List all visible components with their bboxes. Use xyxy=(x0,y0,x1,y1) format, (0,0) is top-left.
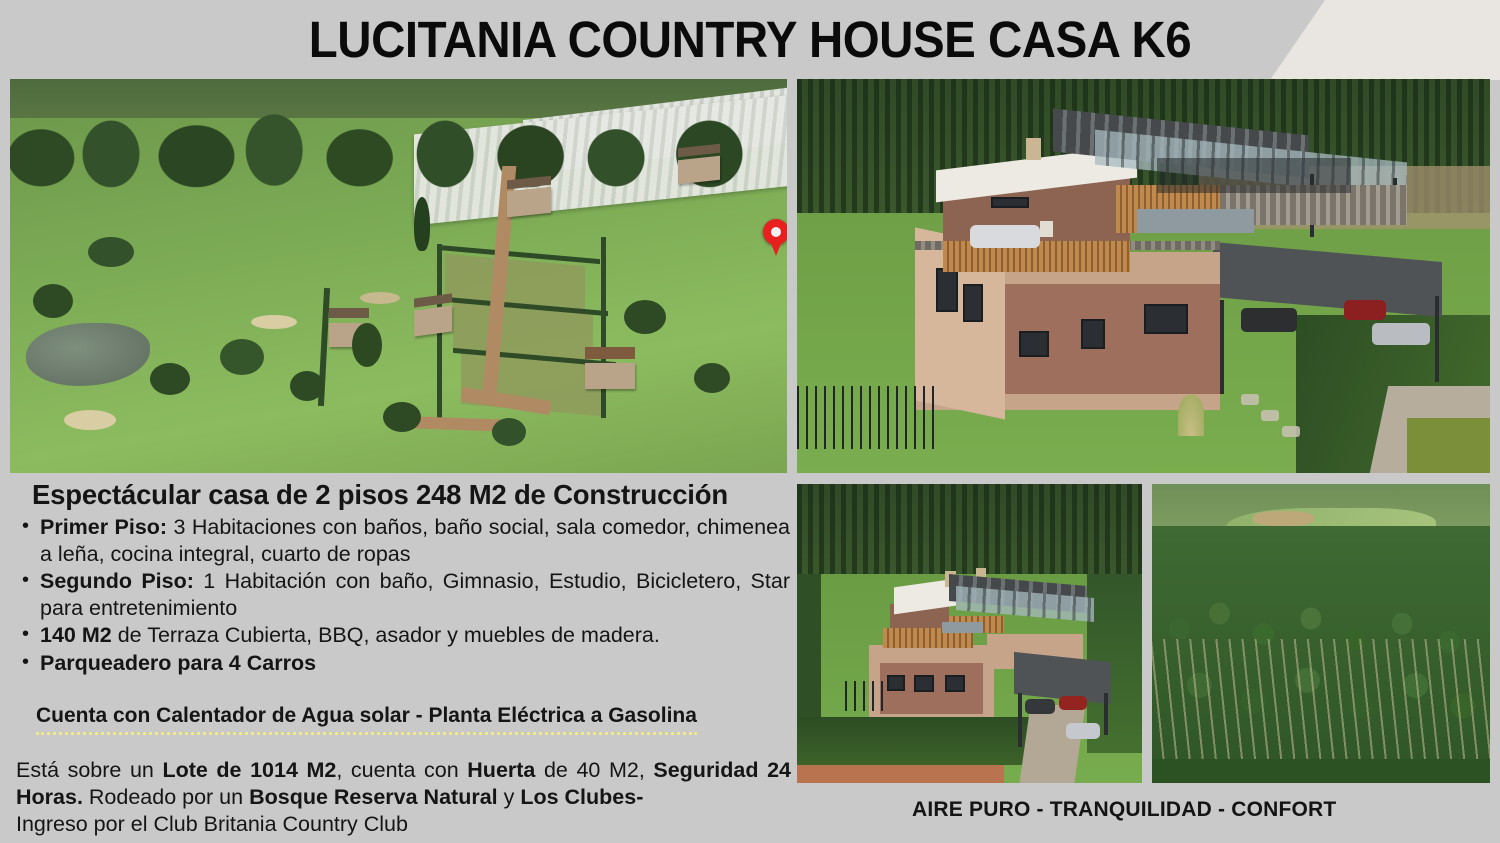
car-suv xyxy=(1241,308,1297,332)
forest-label: Bosque Reserva Natural xyxy=(249,785,498,809)
carport-post xyxy=(1104,693,1108,735)
chimney xyxy=(1026,138,1041,160)
closing-text: y xyxy=(498,785,521,809)
clubs-label: Los Clubes- xyxy=(520,785,643,809)
carport-post xyxy=(1220,300,1224,395)
car-silver xyxy=(1066,723,1100,739)
tree xyxy=(383,402,421,432)
neighborhood-house-roof xyxy=(329,308,369,318)
carport-post xyxy=(1018,693,1022,747)
street-edge xyxy=(797,765,1004,783)
sand-bunker xyxy=(360,292,400,304)
driveway xyxy=(1019,705,1085,783)
background-treeline xyxy=(797,484,1142,574)
slide-canvas: LUCITANIA COUNTRY HOUSE CASA K6 xyxy=(0,0,1500,843)
page-title: LUCITANIA COUNTRY HOUSE CASA K6 xyxy=(53,6,1448,74)
house-aerial-wide-photo xyxy=(797,484,1142,783)
feature-label: Primer Piso: xyxy=(40,515,167,539)
car-red xyxy=(1059,696,1087,710)
tree xyxy=(33,284,73,318)
solar-note: Cuenta con Calentador de Agua solar - Pl… xyxy=(36,703,697,735)
stepping-stone xyxy=(1261,410,1279,421)
tree xyxy=(352,323,382,367)
tree xyxy=(492,418,526,446)
map-pin-marker xyxy=(763,219,787,257)
car-dark xyxy=(1025,699,1055,714)
plowed-field xyxy=(1253,511,1314,526)
list-item: 140 M2 de Terraza Cubierta, BBQ, asador … xyxy=(10,622,790,649)
closing-paragraph: Está sobre un Lote de 1014 M2, cuenta co… xyxy=(16,757,791,838)
closing-text: de 40 M2, xyxy=(535,758,653,782)
feature-text: de Terraza Cubierta, BBQ, asador y muebl… xyxy=(112,623,660,647)
closing-text: Rodeado por un xyxy=(83,785,249,809)
closing-text: Está sobre un xyxy=(16,758,162,782)
vent-stack xyxy=(1040,221,1053,237)
features-list: Primer Piso: 3 Habitaciones con baños, b… xyxy=(10,514,790,676)
upper-window-slot xyxy=(991,197,1029,208)
stepping-stone xyxy=(1282,426,1300,437)
window xyxy=(936,268,958,312)
tree xyxy=(88,237,134,267)
lot-size: Lote de 1014 M2 xyxy=(162,758,336,782)
sand-bunker xyxy=(64,410,116,430)
feature-label: Segundo Piso: xyxy=(40,569,194,593)
feature-label: 140 M2 xyxy=(40,623,112,647)
access-note: Ingreso por el Club Britania Country Clu… xyxy=(16,811,791,838)
neighborhood-house-roof xyxy=(585,347,635,359)
aerial-golf-course-photo xyxy=(10,79,787,473)
neighborhood-house xyxy=(414,305,452,336)
iron-fence xyxy=(797,386,936,449)
stepping-stone xyxy=(1241,394,1259,405)
garden-label: Huerta xyxy=(467,758,535,782)
foreground-foliage xyxy=(1152,759,1490,783)
subject-house xyxy=(678,156,720,184)
map-pin-tail xyxy=(768,236,784,256)
tree xyxy=(694,363,730,393)
window xyxy=(887,675,905,691)
terrace-interior-shade xyxy=(1157,158,1351,193)
window xyxy=(1019,331,1049,357)
car-red xyxy=(1344,300,1386,320)
tree xyxy=(624,300,666,334)
terrace-table xyxy=(942,622,983,634)
terrace-table xyxy=(1137,209,1255,233)
neighborhood-house xyxy=(507,187,551,218)
closing-text: , cuenta con xyxy=(336,758,467,782)
map-pin-dot xyxy=(771,227,781,237)
window-large xyxy=(1144,304,1188,334)
bottom-caption: AIRE PURO - TRANQUILIDAD - CONFORT xyxy=(912,798,1336,822)
list-item: Parqueadero para 4 Carros xyxy=(10,650,790,677)
car-silver xyxy=(1372,323,1430,345)
carport-post xyxy=(1435,296,1439,383)
flower-bed xyxy=(1407,418,1490,473)
tree xyxy=(150,363,190,395)
hedge-line xyxy=(601,237,606,418)
forest-reserve-photo xyxy=(1152,484,1490,783)
window xyxy=(945,675,965,692)
window xyxy=(914,675,934,692)
feature-label: Parqueadero para 4 Carros xyxy=(40,651,316,675)
description-headline: Espectácular casa de 2 pisos 248 M2 de C… xyxy=(32,478,790,512)
house-exterior-photo xyxy=(797,79,1490,473)
pampas-grass xyxy=(1178,394,1204,436)
tree xyxy=(290,371,324,401)
bbq-grill xyxy=(970,225,1039,249)
list-item: Segundo Piso: 1 Habitación con baño, Gim… xyxy=(10,568,790,621)
tree xyxy=(220,339,264,375)
window xyxy=(963,284,983,322)
window xyxy=(1081,319,1105,349)
iron-fence xyxy=(845,681,886,711)
cypress-tree xyxy=(414,197,430,251)
aerial-treeline xyxy=(10,111,787,190)
list-item: Primer Piso: 3 Habitaciones con baños, b… xyxy=(10,514,790,567)
neighborhood-house xyxy=(585,363,635,389)
description-block: Espectácular casa de 2 pisos 248 M2 de C… xyxy=(10,478,790,838)
hedge-front xyxy=(797,717,1039,765)
